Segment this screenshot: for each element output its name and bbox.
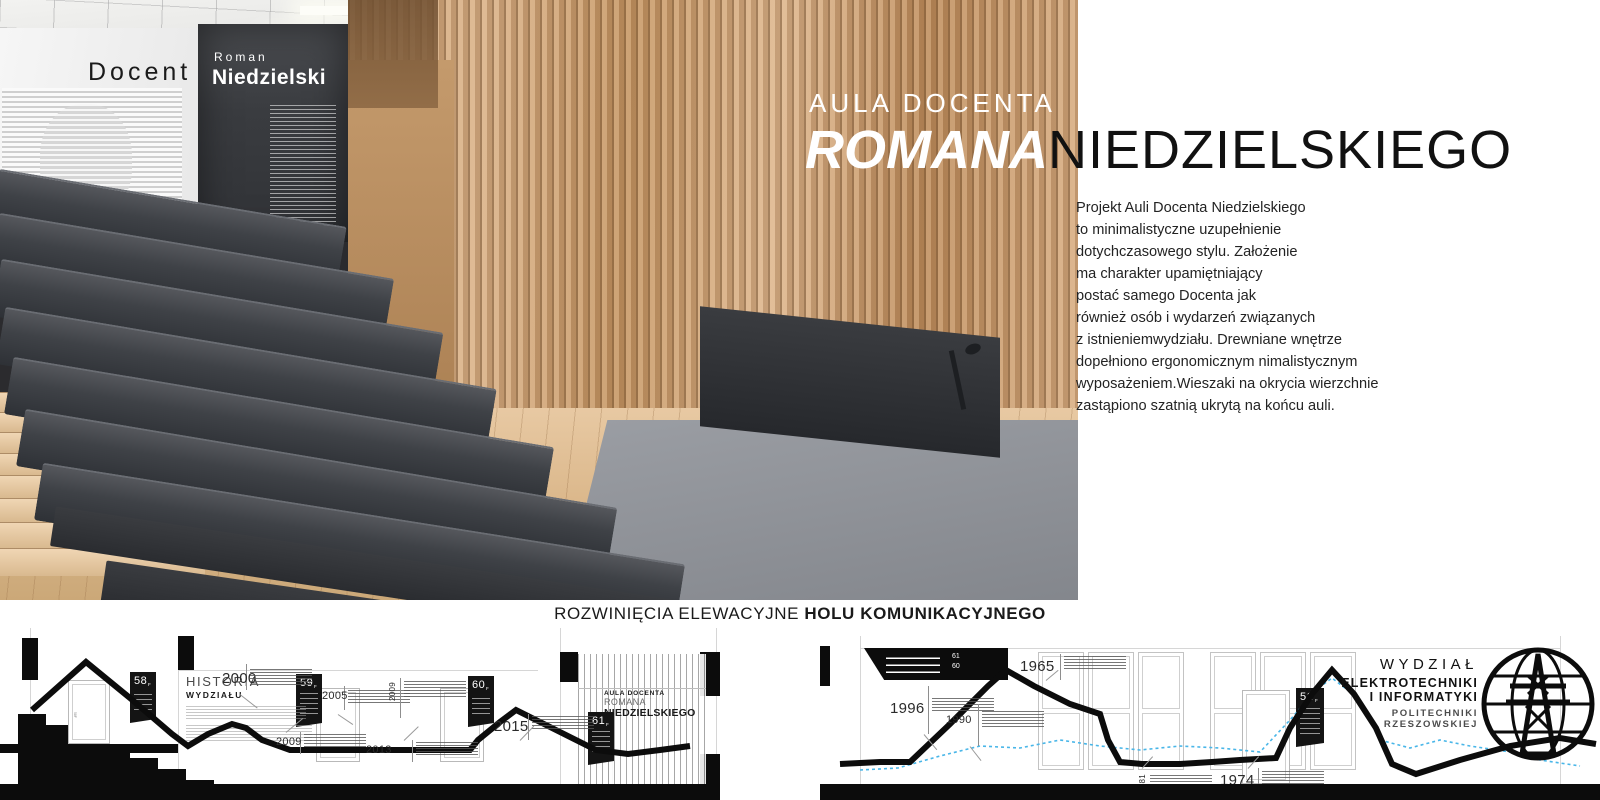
body-line: postać samego Docenta jak bbox=[1076, 285, 1406, 307]
year-leader-rule bbox=[1060, 654, 1061, 680]
presentation-board: Docent Roman Niedzielski bbox=[0, 0, 1600, 800]
caption-bold: HOLU KOMUNIKACYJNEGO bbox=[804, 604, 1046, 623]
body-line: również osób i wydarzeń związanych bbox=[1076, 307, 1406, 329]
year-note bbox=[532, 716, 594, 729]
section-caption: ROZWINIĘCIA ELEWACYJNE HOLU KOMUNIKACYJN… bbox=[0, 600, 1600, 628]
elevation-drawing-left: 58F AULA DOCENTA ROMANA NIEDZIELSKIEGO 5… bbox=[0, 628, 720, 800]
power-pylon-globe-icon bbox=[1480, 646, 1596, 762]
body-line: ma charakter upamiętniający bbox=[1076, 263, 1406, 285]
body-line: dotychczasowego stylu. Założenie bbox=[1076, 241, 1406, 263]
wall-word-docent: Docent bbox=[88, 58, 191, 87]
year-note bbox=[1064, 656, 1126, 669]
year-leader-rule bbox=[978, 704, 979, 746]
year-note bbox=[982, 710, 1044, 727]
elevation-drawing-right: 61 60 51 F 1996 bbox=[820, 628, 1600, 800]
hero-section: Docent Roman Niedzielski bbox=[0, 0, 1600, 600]
year-note bbox=[416, 742, 478, 755]
year-label: 2005 bbox=[322, 690, 348, 702]
body-line: z istnieniemwydziału. Drewniane wnętrze bbox=[1076, 329, 1406, 351]
wood-shadow-panel bbox=[348, 0, 438, 108]
year-note bbox=[304, 734, 366, 747]
year-label: 1965 bbox=[1020, 658, 1055, 675]
body-line: wyposażeniem.Wieszaki na okrycia wierzch… bbox=[1076, 373, 1406, 395]
year-leader-rule bbox=[928, 686, 929, 734]
faculty-line4: POLITECHNIKI bbox=[1268, 708, 1478, 719]
ceiling-profile-line bbox=[0, 628, 720, 800]
hero-body-copy: Projekt Auli Docenta Niedzielskiego to m… bbox=[1076, 197, 1406, 417]
ground-band bbox=[820, 784, 1600, 800]
year-note bbox=[404, 680, 466, 697]
faculty-line2: ELEKTROTECHNIKI bbox=[1268, 676, 1478, 690]
memorial-first-name: Roman bbox=[214, 50, 268, 64]
hero-title: AULA DOCENTA ROMANANIEDZIELSKIEGO bbox=[805, 88, 1585, 177]
hero-eyebrow: AULA DOCENTA bbox=[809, 88, 1585, 119]
body-line: Projekt Auli Docenta Niedzielskiego bbox=[1076, 197, 1406, 219]
year-label: 1990 bbox=[946, 714, 972, 726]
faculty-logotype: WYDZIAŁ ELEKTROTECHNIKI I INFORMATYKI PO… bbox=[1268, 656, 1478, 730]
year-leader-rule bbox=[412, 740, 413, 762]
year-leader-rule bbox=[400, 678, 401, 718]
caption-regular: ROZWINIĘCIA ELEWACYJNE bbox=[554, 604, 804, 623]
hero-title-regular: NIEDZIELSKIEGO bbox=[1048, 120, 1512, 180]
ground-band bbox=[0, 784, 720, 800]
year-label: 1996 bbox=[890, 700, 925, 717]
year-label: 2013 bbox=[366, 744, 392, 756]
body-line: zastąpiono szatnią ukrytą na końcu auli. bbox=[1076, 395, 1406, 417]
body-line: to minimalistyczne uzupełnienie bbox=[1076, 219, 1406, 241]
body-line: dopełniono ergonomicznym nimalistycznym bbox=[1076, 351, 1406, 373]
memorial-last-name: Niedzielski bbox=[212, 66, 326, 90]
year-label: 2009 bbox=[276, 736, 302, 748]
year-label: 2015 bbox=[494, 718, 529, 735]
faculty-line3: I INFORMATYKI bbox=[1268, 690, 1478, 704]
faculty-line5: RZESZOWSKIEJ bbox=[1268, 719, 1478, 730]
hero-title-italic: ROMANA bbox=[805, 120, 1048, 180]
year-note bbox=[250, 668, 312, 685]
faculty-line1: WYDZIAŁ bbox=[1268, 656, 1478, 673]
year-label: 2009 bbox=[388, 682, 397, 701]
